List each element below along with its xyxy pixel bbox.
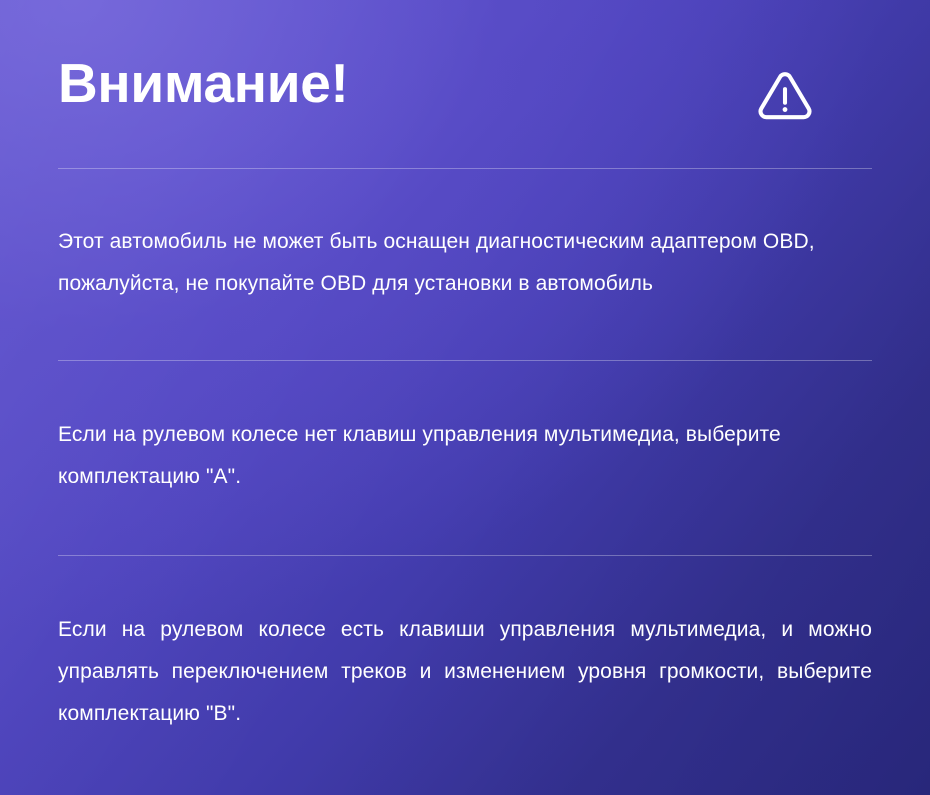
- note-text: Если на рулевом колесе есть клавиши упра…: [58, 609, 872, 735]
- warning-triangle-icon: [754, 64, 816, 126]
- page-title: Внимание!: [58, 52, 349, 114]
- warning-notice-card: Внимание! Этот автомобиль не может быть …: [0, 0, 930, 795]
- note-text: Этот автомобиль не может быть оснащен ди…: [58, 221, 872, 305]
- notice-header: Внимание!: [58, 0, 872, 168]
- note-block-variant-a-instruction: Если на рулевом колесе нет клавиш управл…: [58, 361, 872, 555]
- note-block-obd-adapter-warning: Этот автомобиль не может быть оснащен ди…: [58, 169, 872, 360]
- note-block-variant-b-instruction: Если на рулевом колесе есть клавиши упра…: [58, 556, 872, 735]
- note-text: Если на рулевом колесе нет клавиш управл…: [58, 414, 872, 498]
